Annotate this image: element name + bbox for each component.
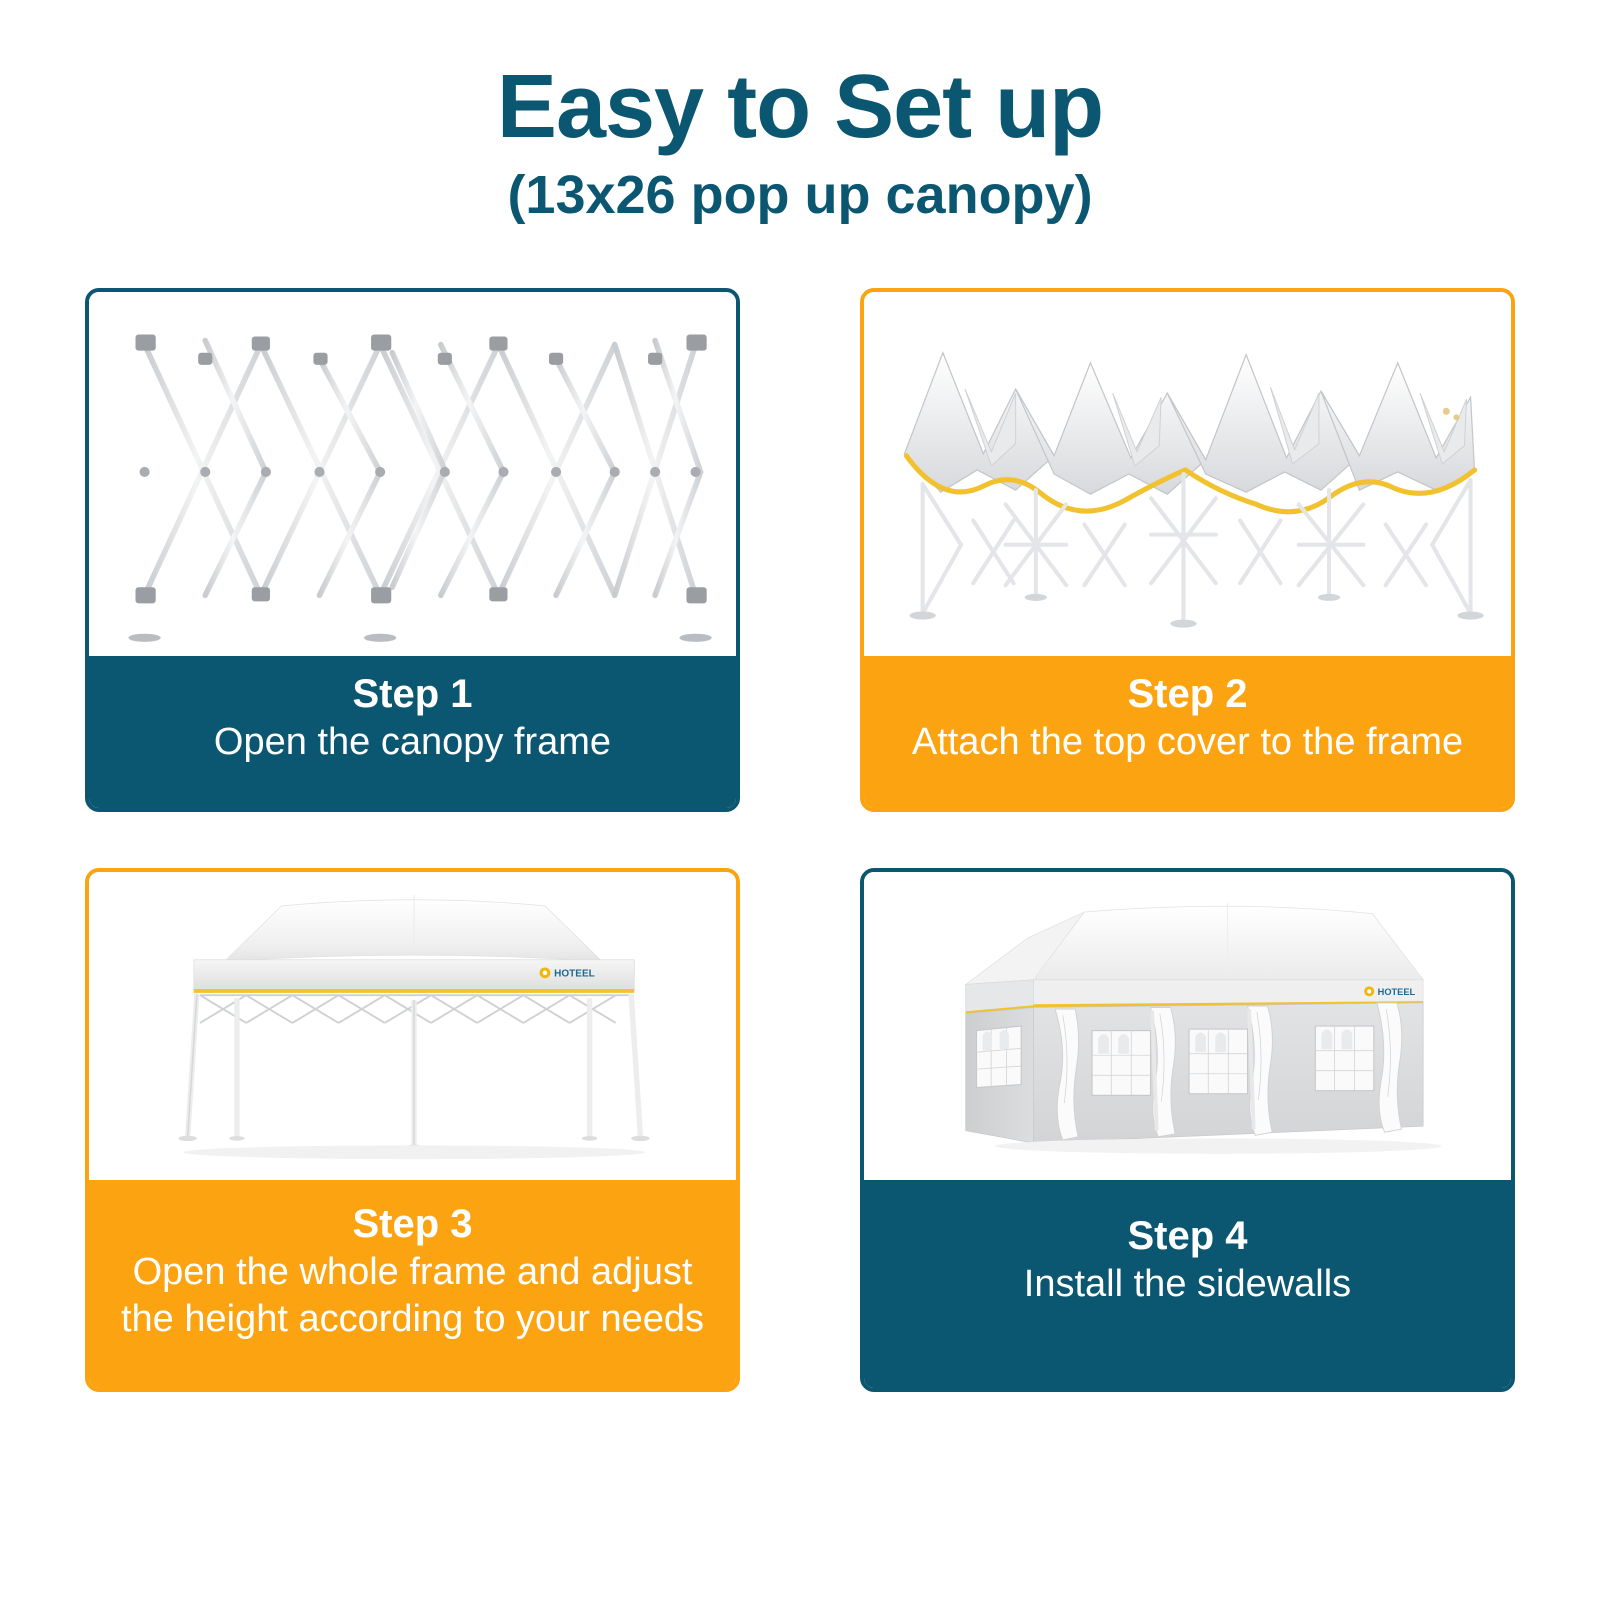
- svg-text:HOTEEL: HOTEEL: [1378, 987, 1416, 997]
- page-title: Easy to Set up: [0, 62, 1600, 152]
- sidewall-window-1: [1092, 1031, 1151, 1096]
- step-3-description-line-1: Open the whole frame and adjust: [99, 1249, 726, 1297]
- header: Easy to Set up (13x26 pop up canopy): [0, 0, 1600, 222]
- step-4-description: Install the sidewalls: [874, 1261, 1501, 1309]
- sidewall-window-3: [1315, 1026, 1374, 1091]
- step-1-banner: Step 1 Open the canopy frame: [89, 656, 736, 808]
- step-4-title: Step 4: [874, 1212, 1501, 1261]
- step-card-3[interactable]: HOTEEL: [85, 868, 740, 1392]
- step-card-1[interactable]: Step 1 Open the canopy frame: [85, 288, 740, 812]
- step-4-banner: Step 4 Install the sidewalls: [864, 1180, 1511, 1388]
- step-3-title: Step 3: [99, 1200, 726, 1249]
- step-card-2[interactable]: Step 2 Attach the top cover to the frame: [860, 288, 1515, 812]
- sidewall-window-2: [1189, 1029, 1248, 1094]
- step-1-title: Step 1: [99, 670, 726, 719]
- extended-canopy-front-view-illustration: HOTEEL: [89, 872, 736, 1180]
- canopy-with-sidewalls-illustration: HOTEEL: [864, 872, 1511, 1180]
- step-3-image: HOTEEL: [89, 872, 736, 1180]
- canopy-top-cover-on-frame-illustration: [864, 292, 1511, 656]
- brand-logo-step4: HOTEEL: [1364, 986, 1415, 997]
- step-2-image: [864, 292, 1511, 656]
- sidewall-window-left: [977, 1026, 1022, 1088]
- step-card-4[interactable]: HOTEEL: [860, 868, 1515, 1392]
- step-3-banner: Step 3 Open the whole frame and adjust t…: [89, 1180, 736, 1388]
- step-1-image: [89, 292, 736, 656]
- page-subtitle: (13x26 pop up canopy): [0, 168, 1600, 222]
- infographic-page: Easy to Set up (13x26 pop up canopy): [0, 0, 1600, 1600]
- step-1-description: Open the canopy frame: [99, 719, 726, 767]
- step-2-banner: Step 2 Attach the top cover to the frame: [864, 656, 1511, 808]
- step-2-description: Attach the top cover to the frame: [874, 719, 1501, 767]
- svg-text:HOTEEL: HOTEEL: [554, 969, 595, 980]
- step-4-image: HOTEEL: [864, 872, 1511, 1180]
- step-2-title: Step 2: [874, 670, 1501, 719]
- steps-grid: Step 1 Open the canopy frame: [85, 288, 1515, 1538]
- folded-canopy-frame-illustration: [89, 292, 736, 656]
- step-3-description-line-2: the height according to your needs: [99, 1296, 726, 1344]
